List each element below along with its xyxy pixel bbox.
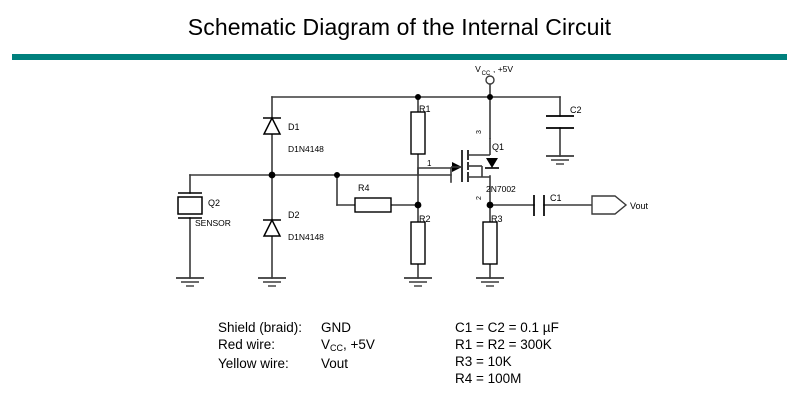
vcc-label-v: V xyxy=(475,64,481,74)
sensor-q2: Q2 SENSOR xyxy=(178,193,231,228)
junction-r4-tap xyxy=(334,172,340,178)
junction-mid-node xyxy=(269,172,276,179)
ground-q2 xyxy=(176,278,204,286)
d2-part: D1N4148 xyxy=(288,232,324,242)
junction-rail-r1 xyxy=(415,94,421,100)
ground-c2 xyxy=(546,156,574,164)
q2-ref: Q2 xyxy=(208,198,220,208)
junction-divider-node xyxy=(415,202,422,209)
r4-body xyxy=(355,198,391,212)
r2-ref: R2 xyxy=(419,214,431,224)
legend-value-r4: R4 = 100M xyxy=(455,370,559,387)
q1-body-diode-triangle xyxy=(486,158,498,168)
legend-row-yellow: Yellow wire:Vout xyxy=(218,355,375,372)
legend-red-value-sub: CC xyxy=(330,343,343,353)
q1-pin-gate: 1 xyxy=(427,159,432,168)
r4-ref: R4 xyxy=(358,183,370,193)
wire-gate-line xyxy=(418,168,451,175)
ground-d2 xyxy=(258,278,286,286)
resistor-r1: R1 xyxy=(411,104,431,154)
legend-value-r3: R3 = 10K xyxy=(455,353,559,370)
legend-value-caps: C1 = C2 = 0.1 µF xyxy=(455,319,559,336)
d1-ref: D1 xyxy=(288,122,300,132)
page-title: Schematic Diagram of the Internal Circui… xyxy=(0,14,799,41)
junction-output-node xyxy=(487,202,494,209)
ground-r2 xyxy=(404,278,432,286)
q1-part: 2N7002 xyxy=(486,184,516,194)
wire-layer xyxy=(190,84,592,278)
legend-red-value-v: V xyxy=(321,337,330,352)
r1-ref: R1 xyxy=(419,104,431,114)
mosfet-q1: Q1 2N7002 1 3 2 xyxy=(427,130,516,200)
r3-ref: R3 xyxy=(491,214,503,224)
legend-wiring: Shield (braid):GND Red wire:VCC, +5V Yel… xyxy=(218,319,375,372)
q2-body xyxy=(178,197,202,214)
resistor-r4: R4 xyxy=(355,183,391,212)
q1-ref: Q1 xyxy=(492,142,504,152)
resistor-r2: R2 xyxy=(411,214,431,264)
d1-part: D1N4148 xyxy=(288,144,324,154)
legend-values: C1 = C2 = 0.1 µF R1 = R2 = 300K R3 = 10K… xyxy=(455,319,559,387)
vcc-label-rest: , +5V xyxy=(493,64,513,74)
d2-ref: D2 xyxy=(288,210,300,220)
junction-rail-vcc xyxy=(487,94,493,100)
legend-shield-value: GND xyxy=(321,320,351,335)
q2-part: SENSOR xyxy=(195,218,231,228)
legend-shield-label: Shield (braid): xyxy=(218,319,321,336)
r3-body xyxy=(483,222,497,264)
legend-row-red: Red wire:VCC, +5V xyxy=(218,336,375,355)
vout-flag xyxy=(592,196,626,214)
legend-yellow-value: Vout xyxy=(321,356,348,371)
resistor-r3: R3 xyxy=(483,214,503,264)
q1-pin-drain: 3 xyxy=(476,130,483,134)
vout-label: Vout xyxy=(630,201,649,211)
slide-canvas: Schematic Diagram of the Internal Circui… xyxy=(0,0,799,406)
vcc-terminal-circle xyxy=(486,76,494,84)
output-terminal: Vout xyxy=(592,196,649,214)
legend-red-label: Red wire: xyxy=(218,336,321,353)
d1-triangle xyxy=(264,118,280,134)
r2-body xyxy=(411,222,425,264)
capacitor-c2: C2 xyxy=(546,105,582,128)
r1-body xyxy=(411,112,425,154)
d2-triangle xyxy=(264,220,280,236)
legend-yellow-label: Yellow wire: xyxy=(218,355,321,372)
q1-pin-source: 2 xyxy=(476,196,483,200)
legend-row-shield: Shield (braid):GND xyxy=(218,319,375,336)
ground-r3 xyxy=(476,278,504,286)
c1-ref: C1 xyxy=(550,193,562,203)
vcc-label-sub: CC xyxy=(482,71,491,77)
circuit-schematic: V CC , +5V D1 D1N4148 D2 D1N4148 Q2 SENS… xyxy=(0,60,799,310)
legend-value-r1r2: R1 = R2 = 300K xyxy=(455,336,559,353)
c2-ref: C2 xyxy=(570,105,582,115)
vcc-terminal: V CC , +5V xyxy=(475,64,513,84)
legend-red-value-rest: , +5V xyxy=(343,337,375,352)
